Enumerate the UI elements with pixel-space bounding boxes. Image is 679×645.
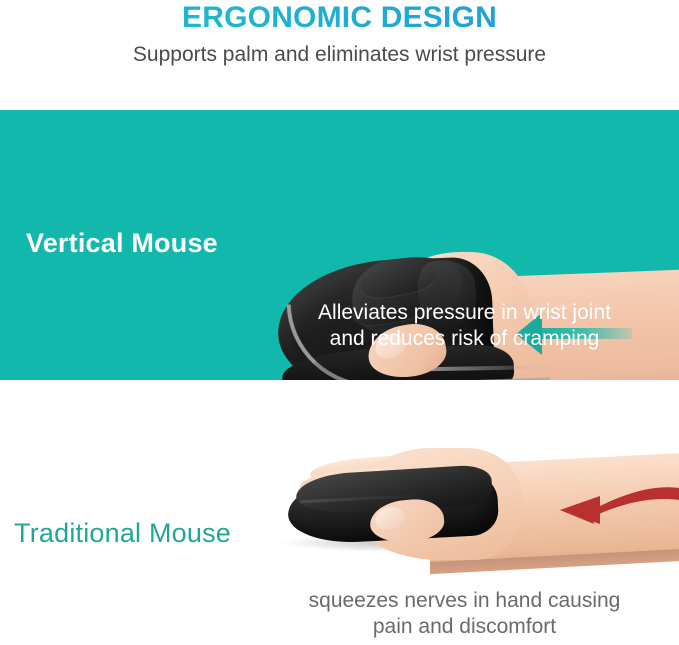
vertical-caption-line-2: and reduces risk of cramping [250, 326, 679, 352]
vertical-mouse-caption: Alleviates pressure in wrist joint and r… [250, 300, 679, 352]
traditional-mouse-label: Traditional Mouse [14, 518, 231, 549]
traditional-caption-line-1: squeezes nerves in hand causing [250, 588, 679, 614]
header-section: ERGONOMIC DESIGN Supports palm and elimi… [0, 0, 679, 108]
traditional-caption-line-2: pain and discomfort [250, 614, 679, 640]
vertical-mouse-label: Vertical Mouse [26, 228, 218, 259]
traditional-mouse-caption: squeezes nerves in hand causing pain and… [250, 588, 679, 640]
vertical-caption-line-1: Alleviates pressure in wrist joint [250, 300, 679, 326]
page-subtitle: Supports palm and eliminates wrist press… [0, 43, 679, 67]
page-title: ERGONOMIC DESIGN [0, 1, 679, 35]
red-arrow-left-icon [490, 470, 679, 540]
product-infographic: ERGONOMIC DESIGN Supports palm and elimi… [0, 0, 679, 645]
